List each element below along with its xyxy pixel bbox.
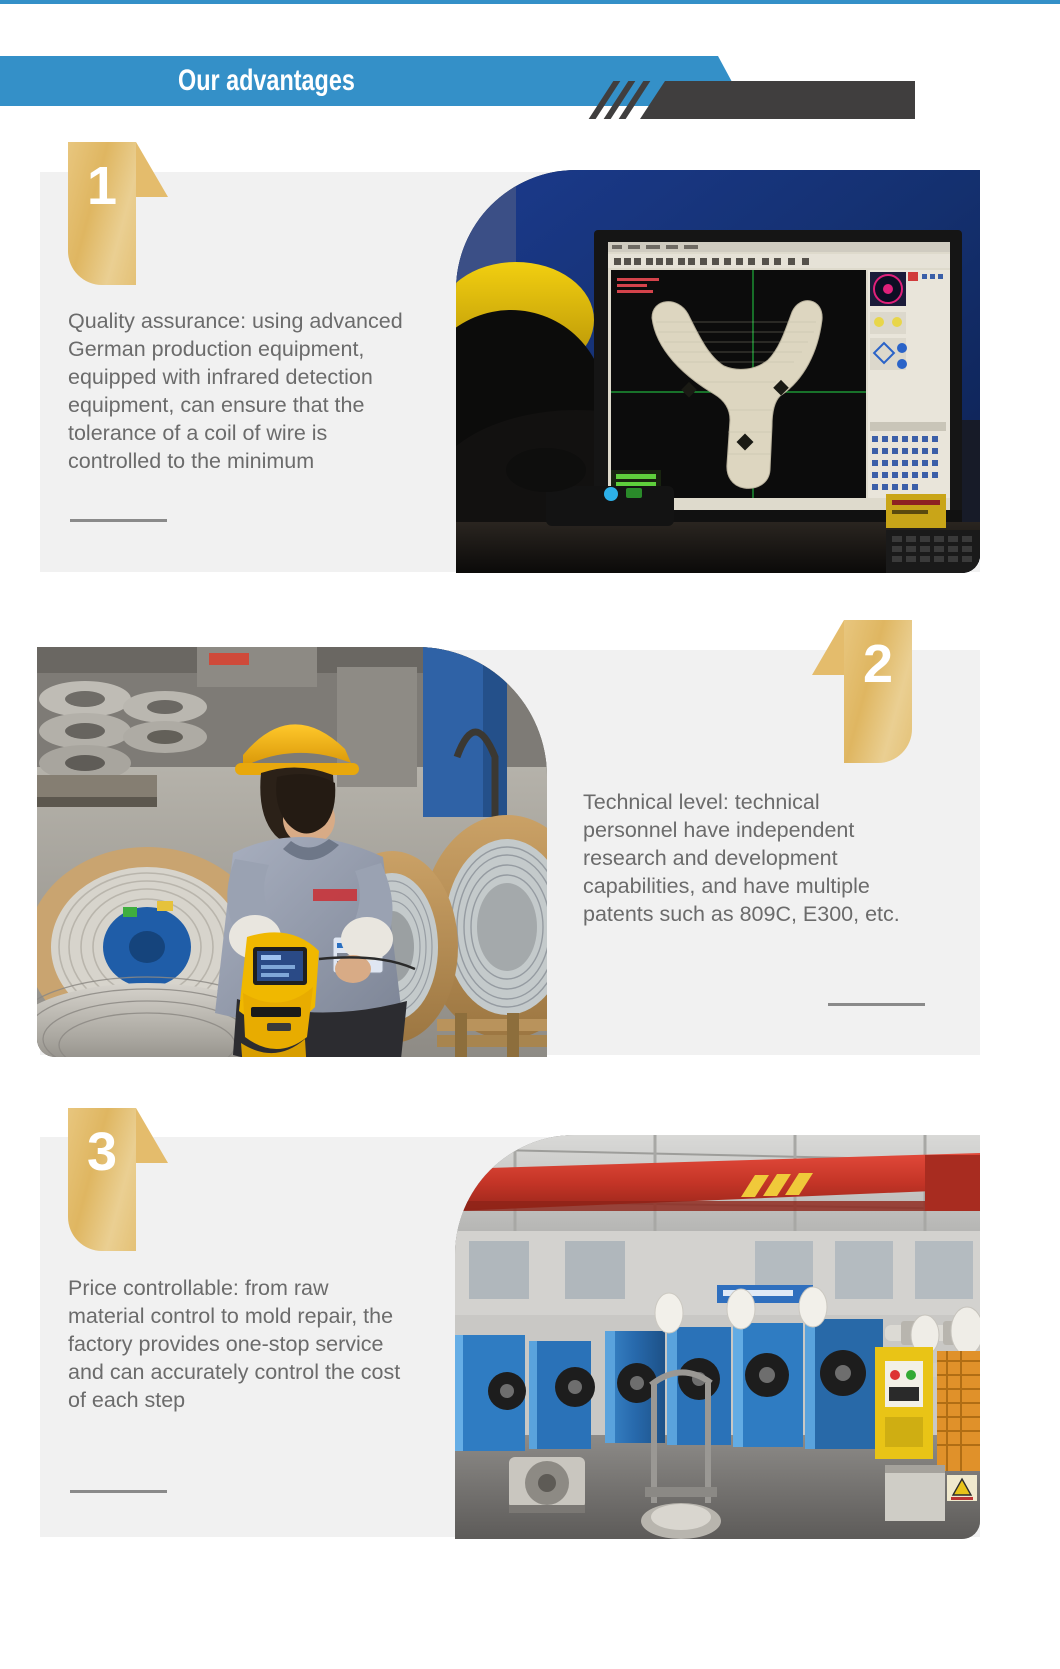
section-header: Our advantages <box>0 56 1060 126</box>
advantage-number: 2 <box>844 632 912 696</box>
advantage-description: Price controllable: from raw material co… <box>68 1274 408 1414</box>
ribbon-body: 1 <box>68 142 136 285</box>
ribbon-body: 3 <box>68 1108 136 1251</box>
advantage-photo-1 <box>456 170 980 573</box>
header-dark-banner <box>640 81 915 119</box>
xrf-analyzer-photo <box>37 647 547 1057</box>
advantage-description: Quality assurance: using advanced German… <box>68 307 418 475</box>
factory-floor-photo <box>455 1135 980 1539</box>
card-divider <box>70 519 167 522</box>
top-accent-rule <box>0 0 1060 4</box>
advantage-number-ribbon: 2 <box>844 620 912 763</box>
cad-inspection-photo <box>456 170 980 573</box>
advantage-number: 3 <box>68 1120 136 1184</box>
card-divider <box>828 1003 925 1006</box>
advantage-description: Technical level: technical personnel hav… <box>583 788 913 928</box>
card-divider <box>70 1490 167 1493</box>
ribbon-flag-icon <box>136 1108 168 1163</box>
advantage-number-ribbon: 1 <box>68 142 136 285</box>
ribbon-flag-icon <box>136 142 168 197</box>
advantage-photo-2 <box>37 647 547 1057</box>
advantage-number-ribbon: 3 <box>68 1108 136 1251</box>
page-title: Our advantages <box>178 62 355 100</box>
advantage-photo-3 <box>455 1135 980 1539</box>
advantage-number: 1 <box>68 154 136 218</box>
ribbon-body: 2 <box>844 620 912 763</box>
